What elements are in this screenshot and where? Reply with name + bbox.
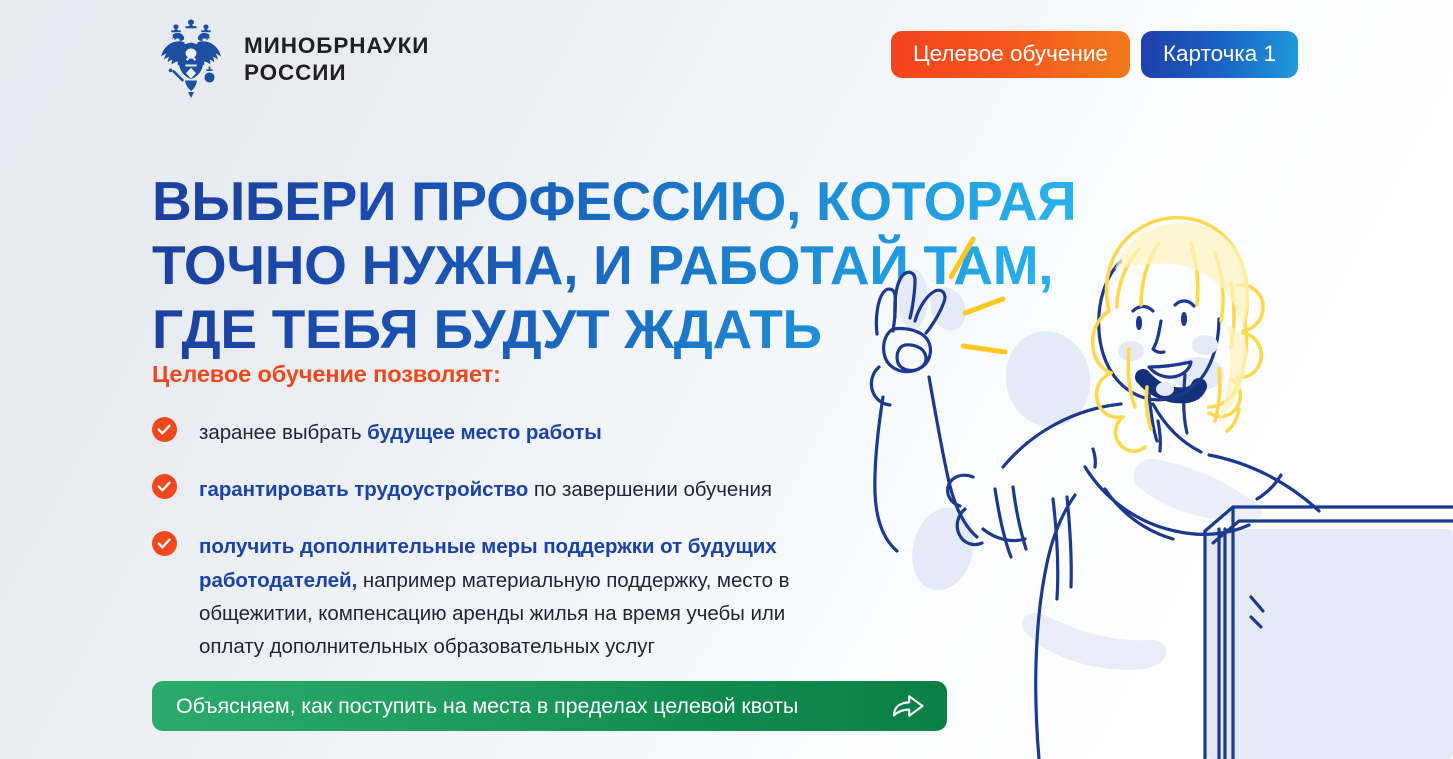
benefit-text-emphasis: будущее место работы: [367, 421, 602, 444]
badge-card-number[interactable]: Карточка 1: [1141, 31, 1298, 78]
check-circle-icon: [152, 531, 177, 556]
poster-canvas: МИНОБРНАУКИ РОССИИ Целевое обучение Карт…: [0, 0, 1453, 759]
benefits-list: заранее выбрать будущее место работы гар…: [152, 416, 842, 687]
badge-topic[interactable]: Целевое обучение: [891, 31, 1130, 78]
cta-label: Объясняем, как поступить на места в пред…: [176, 694, 798, 719]
benefit-guaranteed-employment: гарантировать трудоустройство по заверше…: [152, 473, 842, 506]
cta-banner[interactable]: Объясняем, как поступить на места в пред…: [152, 681, 947, 731]
benefit-text-plain: по завершении обучения: [528, 478, 772, 501]
russian-coat-of-arms-icon: [152, 14, 230, 104]
share-arrow-icon[interactable]: [875, 693, 925, 720]
benefit-text: гарантировать трудоустройство по заверше…: [199, 473, 772, 506]
badge-group: Целевое обучение Карточка 1: [891, 31, 1298, 78]
benefit-future-workplace: заранее выбрать будущее место работы: [152, 416, 842, 449]
benefits-section-title: Целевое обучение позволяет:: [152, 361, 501, 388]
benefit-extra-support: получить дополнительные меры поддержки о…: [152, 530, 842, 663]
benefit-text-plain: заранее выбрать: [199, 421, 367, 444]
brand-lockup: МИНОБРНАУКИ РОССИИ: [152, 14, 429, 104]
page-title: Выбери профессию, которая точно нужна, и…: [152, 169, 1162, 361]
brand-name: МИНОБРНАУКИ РОССИИ: [244, 32, 429, 86]
check-circle-icon: [152, 417, 177, 442]
benefit-text: заранее выбрать будущее место работы: [199, 416, 602, 449]
check-circle-icon: [152, 474, 177, 499]
benefit-text-emphasis: гарантировать трудоустройство: [199, 478, 528, 501]
benefit-text: получить дополнительные меры поддержки о…: [199, 530, 842, 663]
